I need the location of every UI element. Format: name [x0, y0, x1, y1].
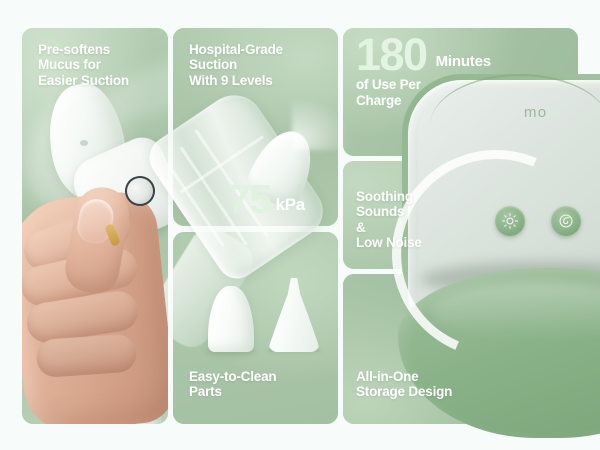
hand-holding-device: [22, 189, 168, 424]
brightness-icon: [502, 213, 519, 230]
caption-pre-softens: Pre-softens Mucus for Easier Suction: [38, 42, 164, 88]
suction-metric: 75 kPa: [228, 181, 305, 218]
brand-logo-text: mo: [524, 104, 547, 121]
sound-spiral-icon: [558, 213, 575, 230]
finger: [35, 333, 137, 378]
caption-easy-to-clean: Easy-to-Clean Parts: [189, 369, 339, 400]
battery-metric-group: 180 Minutes of Use Per Charge: [356, 34, 491, 108]
suction-value: 75: [228, 181, 271, 218]
battery-subcaption: of Use Per Charge: [356, 77, 491, 108]
battery-value: 180: [356, 34, 427, 75]
battery-unit: Minutes: [436, 53, 491, 70]
light-button[interactable]: [495, 206, 525, 236]
mist-spray-icon: [292, 96, 352, 150]
sound-button[interactable]: [551, 206, 581, 236]
infographic-canvas: Pre-softens Mucus for Easier Suction Hos…: [0, 0, 600, 450]
caption-all-in-one-storage: All-in-One Storage Design: [356, 369, 526, 400]
funnel-vent-hole: [80, 140, 88, 146]
suction-unit: kPa: [276, 195, 305, 215]
caption-hospital-grade: Hospital-Grade Suction With 9 Levels: [189, 42, 339, 88]
caption-soothing-sounds: Soothing Sounds & Low Noise: [356, 189, 466, 251]
